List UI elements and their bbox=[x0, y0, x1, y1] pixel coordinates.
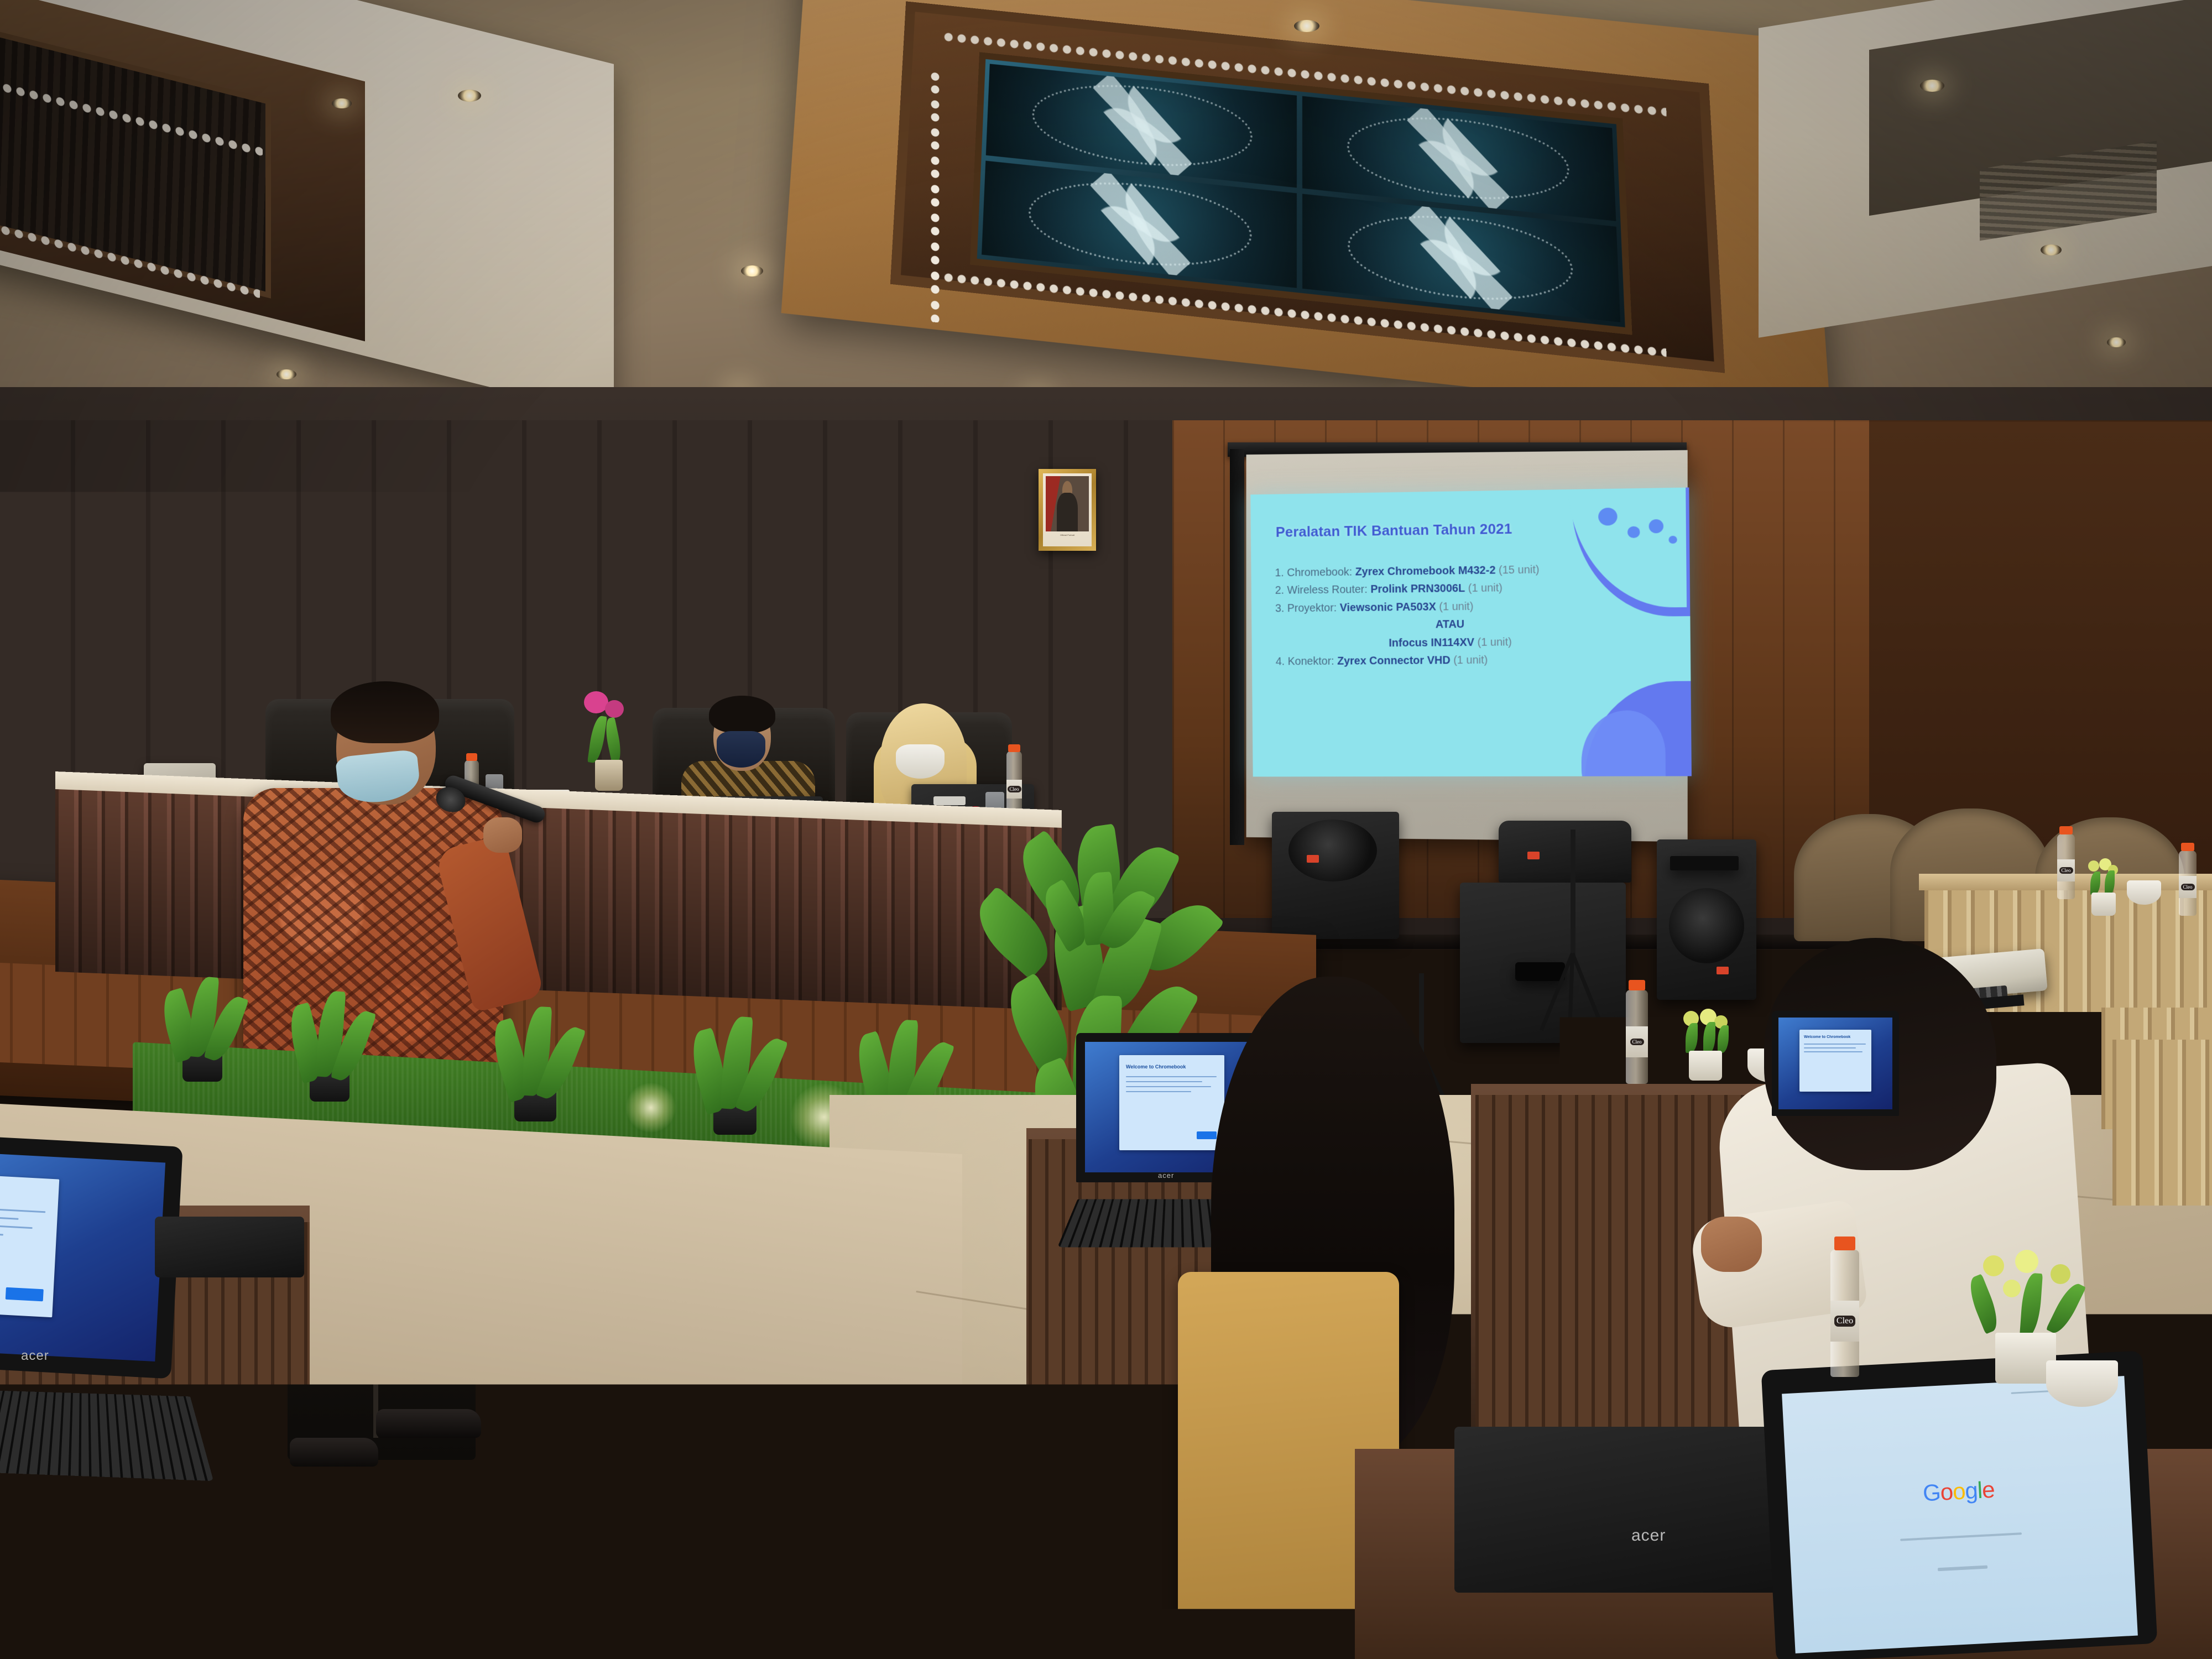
downlight bbox=[276, 369, 296, 379]
water-bottle[interactable]: Cleo bbox=[2057, 834, 2075, 899]
presenter-hair bbox=[331, 681, 439, 743]
chromebook-left-keyboard[interactable] bbox=[0, 1388, 213, 1481]
dialog-text-line bbox=[1804, 1044, 1866, 1045]
slide-item-label: Proyektor: bbox=[1287, 602, 1337, 614]
head-table bbox=[55, 771, 1062, 1009]
speaker-cone bbox=[1669, 888, 1744, 963]
speaker-tweeter bbox=[1670, 856, 1739, 870]
bottle-label: Cleo bbox=[2179, 876, 2197, 898]
laptop-sleeve-left[interactable] bbox=[155, 1217, 304, 1277]
bottle-brand: Cleo bbox=[1008, 786, 1021, 792]
welcome-dialog: Welcome to Chromebook bbox=[0, 1171, 59, 1317]
google-button-row[interactable] bbox=[1938, 1566, 1987, 1572]
slide-item-label: Chromebook: bbox=[1287, 566, 1352, 579]
portrait-caption: Official Portrait bbox=[1043, 534, 1092, 546]
bottle-cap bbox=[2181, 843, 2194, 851]
bottle-label: Cleo bbox=[2057, 859, 2075, 881]
bottle-brand: Cleo bbox=[2059, 867, 2073, 874]
slide-item-number: 3. bbox=[1275, 602, 1285, 614]
bottle-label: Cleo bbox=[1006, 780, 1022, 799]
slide-item-product: Zyrex Chromebook M432-2 bbox=[1355, 564, 1496, 578]
plant-leaf bbox=[1686, 1023, 1698, 1053]
downlight bbox=[1920, 80, 1944, 92]
slide-list-item-alternative-product: Infocus IN114XV (1 unit) bbox=[1275, 632, 1661, 653]
portrait-mat: Official Portrait bbox=[1043, 473, 1092, 546]
google-logo: Google bbox=[1922, 1477, 1995, 1507]
attendee-right-hand bbox=[1701, 1217, 1762, 1272]
bottle-label: Cleo bbox=[1830, 1301, 1859, 1342]
portrait-photo bbox=[1046, 476, 1089, 531]
side-table-flowerpot bbox=[2084, 858, 2122, 916]
panelist-left-hair bbox=[709, 696, 775, 733]
plant-leaf bbox=[2090, 872, 2100, 895]
flower-bloom bbox=[2051, 1264, 2070, 1284]
dialog-text-line bbox=[0, 1220, 33, 1229]
dialog-next-button[interactable] bbox=[1197, 1131, 1217, 1139]
small-bowl bbox=[2046, 1360, 2118, 1407]
garden-uplight bbox=[626, 1083, 676, 1133]
slide-item-number: 1. bbox=[1275, 567, 1284, 579]
laptop-sticker-label bbox=[933, 796, 966, 805]
dialog-text-line bbox=[1126, 1086, 1211, 1087]
dialog-text-line bbox=[1804, 1051, 1863, 1052]
portrait-peci-cap bbox=[1062, 486, 1073, 494]
water-bottle[interactable]: Cleo bbox=[2179, 851, 2197, 916]
downlight bbox=[332, 98, 352, 108]
acer-logo: acer bbox=[1158, 1171, 1174, 1180]
jbl-badge bbox=[1307, 855, 1319, 863]
welcome-dialog: Welcome to Chromebook bbox=[1799, 1030, 1871, 1092]
speaker-top-center bbox=[1499, 821, 1631, 883]
water-bottle[interactable]: Cleo bbox=[1626, 990, 1648, 1084]
dialog-text-line bbox=[0, 1229, 3, 1235]
presentation-slide: Peralatan TIK Bantuan Tahun 2021 1. Chro… bbox=[1250, 488, 1692, 777]
slide-item-product: Prolink PRN3006L bbox=[1370, 582, 1465, 596]
dialog-text-line bbox=[1126, 1081, 1202, 1082]
dialog-text-line bbox=[0, 1212, 18, 1220]
slide-item-qty: (1 unit) bbox=[1439, 601, 1473, 613]
presenter-hand-mic bbox=[483, 817, 522, 853]
acer-logo-sleeve: acer bbox=[1631, 1526, 1666, 1545]
small-bowl bbox=[2127, 880, 2161, 905]
plant-leaf bbox=[1964, 1274, 2003, 1334]
vase-body bbox=[595, 760, 623, 791]
water-bottle[interactable]: Cleo bbox=[1830, 1250, 1859, 1377]
panelist-left-face-mask bbox=[717, 731, 765, 768]
slide-item-product: Viewsonic PA503X bbox=[1340, 601, 1436, 614]
welcome-dialog: Welcome to Chromebook bbox=[1119, 1055, 1224, 1150]
conference-room-photo: Official Portrait Peralatan TIK Bantuan … bbox=[0, 0, 2212, 1659]
flower-pot bbox=[1689, 1051, 1722, 1081]
slide-item-label: Konektor: bbox=[1288, 655, 1334, 667]
jbl-badge bbox=[1717, 967, 1729, 974]
acer-logo: acer bbox=[21, 1348, 49, 1364]
slide-item-product: ATAU bbox=[1436, 618, 1465, 630]
slide-item-qty: (15 unit) bbox=[1499, 564, 1540, 576]
dialog-text-line bbox=[0, 1204, 45, 1213]
jbl-badge bbox=[1527, 852, 1540, 859]
plant-leaf bbox=[1718, 1025, 1729, 1053]
flower-pot bbox=[2091, 893, 2116, 916]
dialog-text-line bbox=[1126, 1076, 1217, 1077]
downlight bbox=[2107, 337, 2126, 347]
slide-item-label: Wireless Router: bbox=[1287, 583, 1367, 596]
table-flowerpot-center bbox=[1676, 1009, 1736, 1081]
slide-item-number: 2. bbox=[1275, 585, 1285, 597]
flower-bloom bbox=[2003, 1280, 2021, 1297]
speaker-cone bbox=[1288, 820, 1377, 881]
orchid-arrangement bbox=[581, 691, 641, 791]
bottle-label: Cleo bbox=[1626, 1026, 1648, 1057]
slide-item-number: 4. bbox=[1276, 656, 1285, 668]
bottle-brand: Cleo bbox=[1630, 1039, 1644, 1045]
panelist-right-face-mask bbox=[896, 744, 945, 779]
slide-item-qty: (1 unit) bbox=[1477, 636, 1511, 649]
dialog-next-button[interactable] bbox=[6, 1287, 44, 1302]
downlight bbox=[741, 265, 763, 276]
plant-leaf bbox=[2020, 1272, 2043, 1338]
right-wall-table-skirt bbox=[2112, 1040, 2212, 1206]
bottle-cap bbox=[2059, 826, 2073, 834]
downlight bbox=[1294, 20, 1319, 32]
welcome-dialog-title: Welcome to Chromebook bbox=[1126, 1064, 1224, 1070]
plant-leaf bbox=[2046, 1280, 2086, 1337]
projection-screen-left-edge bbox=[1230, 449, 1244, 845]
google-search-box[interactable] bbox=[1900, 1532, 2022, 1541]
bottle-cap bbox=[1834, 1237, 1855, 1250]
vase-leaf bbox=[587, 715, 607, 764]
bottle-cap bbox=[1629, 980, 1645, 990]
bottle-brand: Cleo bbox=[2181, 884, 2195, 890]
chromebook-left-screen[interactable]: Welcome to Chromebook bbox=[0, 1149, 165, 1361]
slide-item-product: Infocus IN114XV bbox=[1389, 636, 1474, 649]
slide-item-qty: (1 unit) bbox=[1468, 582, 1503, 595]
flower-bloom bbox=[1983, 1255, 2004, 1276]
welcome-dialog-title: Welcome to Chromebook bbox=[0, 1186, 59, 1202]
water-bottle[interactable]: Cleo bbox=[1006, 751, 1022, 817]
chromebook-right-screen: Welcome to Chromebook bbox=[1778, 1018, 1892, 1109]
dialog-text-line bbox=[1804, 1047, 1856, 1048]
bottle-cap bbox=[466, 753, 477, 761]
dialog-text-line bbox=[1126, 1091, 1191, 1092]
portrait-necktie bbox=[1066, 505, 1069, 519]
bottle-brand: Cleo bbox=[1834, 1316, 1855, 1327]
speaker-stand-pole bbox=[1571, 830, 1575, 957]
slide-item-qty: (1 unit) bbox=[1453, 654, 1488, 666]
slide-bullet-list: 1. Chromebook: Zyrex Chromebook M432-2 (… bbox=[1275, 560, 1662, 671]
plant-leaf bbox=[1703, 1022, 1715, 1054]
chromebook-front-screen[interactable]: Google bbox=[1782, 1376, 2138, 1653]
flower-bloom bbox=[2015, 1250, 2038, 1273]
welcome-dialog-title: Welcome to Chromebook bbox=[1804, 1035, 1871, 1039]
downlight bbox=[2041, 244, 2062, 255]
framed-portrait: Official Portrait bbox=[1039, 469, 1096, 551]
downlight bbox=[458, 90, 481, 102]
slide-item-product: Zyrex Connector VHD bbox=[1337, 654, 1451, 667]
flower-bloom bbox=[2088, 860, 2099, 872]
slide-list-item: 4. Konektor: Zyrex Connector VHD (1 unit… bbox=[1276, 650, 1662, 671]
foreground-chair-left[interactable] bbox=[33, 1593, 199, 1659]
orchid-bloom bbox=[605, 700, 624, 718]
subwoofer-vent bbox=[1515, 962, 1565, 981]
coffer-scrollwork-left bbox=[922, 68, 948, 324]
slide-title: Peralatan TIK Bantuan Tahun 2021 bbox=[1276, 520, 1512, 541]
bottle-cap bbox=[1008, 744, 1020, 752]
